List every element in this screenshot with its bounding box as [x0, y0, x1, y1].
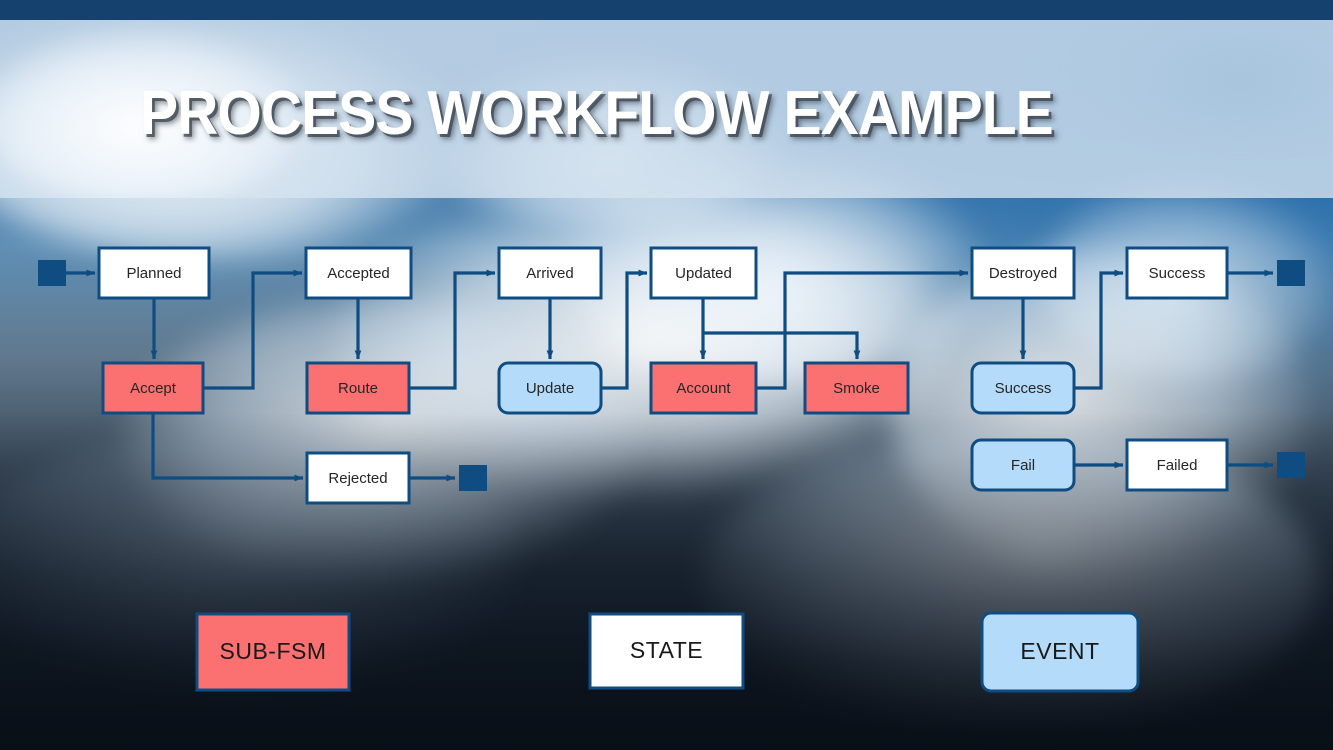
node-label: Success: [1149, 265, 1206, 282]
terminal-box[interactable]: [459, 465, 487, 491]
edge-update-to-updated: [601, 273, 647, 388]
node-label: Update: [526, 380, 574, 397]
node-label: Route: [338, 380, 378, 397]
node-smoke[interactable]: Smoke: [805, 363, 908, 413]
slide: PROCESS WORKFLOW EXAMPLE: [0, 0, 1333, 750]
node-account[interactable]: Account: [651, 363, 756, 413]
legend-item-label: EVENT: [1020, 638, 1099, 664]
node-label: Arrived: [526, 265, 574, 282]
node-rejected[interactable]: Rejected: [307, 453, 409, 503]
terminal-box[interactable]: [38, 260, 66, 286]
edge-accept-to-rejected: [153, 413, 303, 478]
legend-item-label: STATE: [630, 637, 703, 663]
node-planned[interactable]: Planned: [99, 248, 209, 298]
node-label: Accept: [130, 380, 177, 397]
node-arrived[interactable]: Arrived: [499, 248, 601, 298]
legend-layer: SUB-FSMSTATEEVENT: [197, 613, 1138, 691]
edge-route-to-arrived: [409, 273, 495, 388]
node-label: Success: [995, 380, 1052, 397]
node-success-st[interactable]: Success: [1127, 248, 1227, 298]
edge-success-ev-to-success: [1074, 273, 1123, 388]
node-accepted[interactable]: Accepted: [306, 248, 411, 298]
node-destroyed[interactable]: Destroyed: [972, 248, 1074, 298]
legend-item-label: SUB-FSM: [220, 638, 327, 664]
legend-item-legend-state[interactable]: STATE: [590, 614, 743, 688]
node-end-success[interactable]: [1277, 260, 1305, 286]
edge-accept-to-accepted: [203, 273, 302, 388]
node-label: Fail: [1011, 457, 1035, 474]
node-label: Destroyed: [989, 265, 1057, 282]
node-label: Failed: [1157, 457, 1198, 474]
node-route[interactable]: Route: [307, 363, 409, 413]
node-label: Account: [676, 380, 731, 397]
edge-updated-to-smoke: [703, 333, 857, 359]
workflow-diagram: PlannedAcceptAcceptedRouteRejectedArrive…: [0, 0, 1333, 750]
node-failed-st[interactable]: Failed: [1127, 440, 1227, 490]
node-label: Rejected: [328, 470, 387, 487]
node-end-failed[interactable]: [1277, 452, 1305, 478]
node-start[interactable]: [38, 260, 66, 286]
legend-item-legend-event[interactable]: EVENT: [982, 613, 1138, 691]
node-label: Planned: [126, 265, 181, 282]
node-success-ev[interactable]: Success: [972, 363, 1074, 413]
node-update[interactable]: Update: [499, 363, 601, 413]
terminal-box[interactable]: [1277, 452, 1305, 478]
node-end-reject[interactable]: [459, 465, 487, 491]
node-label: Accepted: [327, 265, 390, 282]
legend-item-legend-sub-fsm[interactable]: SUB-FSM: [197, 614, 349, 690]
node-fail-ev[interactable]: Fail: [972, 440, 1074, 490]
node-accept[interactable]: Accept: [103, 363, 203, 413]
terminal-box[interactable]: [1277, 260, 1305, 286]
node-label: Smoke: [833, 380, 880, 397]
node-label: Updated: [675, 265, 732, 282]
node-updated[interactable]: Updated: [651, 248, 756, 298]
